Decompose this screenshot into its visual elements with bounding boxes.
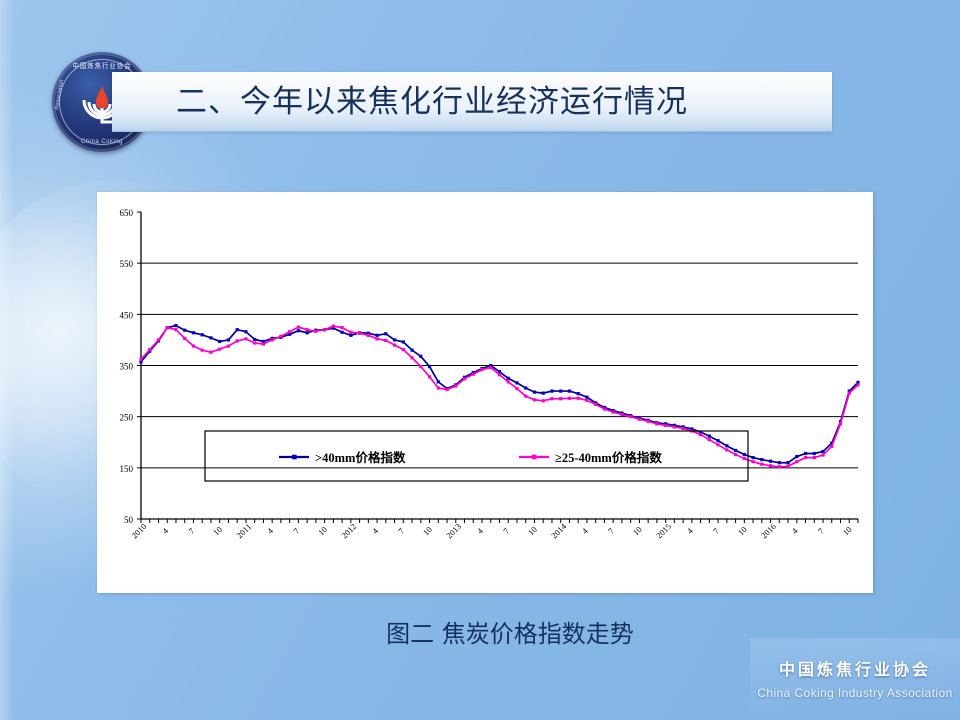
svg-text:≥25-40mm价格指数: ≥25-40mm价格指数 (555, 450, 662, 465)
svg-text:10: 10 (211, 524, 224, 537)
svg-text:7: 7 (396, 526, 406, 536)
price-index-line-chart: 5015025035045055065020104710201147102012… (97, 192, 873, 593)
svg-text:10: 10 (736, 524, 749, 537)
logo-text-en: China Coking (52, 139, 152, 145)
svg-text:650: 650 (120, 208, 134, 218)
svg-text:10: 10 (316, 524, 329, 537)
slide-canvas: 中国炼焦行业协会 Association Industry China Coki… (0, 0, 960, 720)
svg-text:50: 50 (124, 515, 134, 525)
svg-text:2015: 2015 (654, 521, 673, 540)
svg-text:2014: 2014 (549, 521, 569, 541)
svg-text:10: 10 (421, 524, 434, 537)
footer-en: China Coking Industry Association (750, 686, 960, 700)
svg-text:4: 4 (265, 525, 276, 536)
svg-text:4: 4 (370, 525, 381, 536)
svg-text:7: 7 (816, 526, 826, 536)
svg-text:4: 4 (160, 525, 171, 536)
svg-text:>40mm价格指数: >40mm价格指数 (315, 450, 406, 465)
svg-text:4: 4 (790, 525, 801, 536)
chart-panel: 5015025035045055065020104710201147102012… (97, 192, 873, 593)
svg-text:10: 10 (631, 524, 644, 537)
svg-text:350: 350 (120, 362, 134, 372)
svg-text:7: 7 (186, 526, 196, 536)
svg-text:4: 4 (475, 525, 486, 536)
svg-text:10: 10 (841, 524, 854, 537)
svg-text:2013: 2013 (444, 521, 463, 540)
svg-text:10: 10 (526, 524, 539, 537)
svg-text:550: 550 (120, 259, 134, 269)
svg-text:7: 7 (501, 526, 511, 536)
svg-text:7: 7 (606, 526, 616, 536)
page-title: 二、今年以来焦化行业经济运行情况 (176, 76, 876, 128)
footer-cn: 中国炼焦行业协会 (750, 656, 960, 680)
svg-text:2011: 2011 (234, 521, 253, 540)
svg-text:250: 250 (120, 413, 134, 423)
svg-text:2016: 2016 (759, 521, 778, 540)
svg-text:150: 150 (120, 464, 134, 474)
svg-text:4: 4 (685, 525, 696, 536)
figure-caption: 图二 焦炭价格指数走势 (250, 616, 770, 652)
footer-watermark: 中国炼焦行业协会 China Coking Industry Associati… (750, 638, 960, 720)
svg-text:7: 7 (291, 526, 301, 536)
logo-text-cn: 中国炼焦行业协会 (56, 61, 148, 71)
svg-text:2012: 2012 (339, 521, 358, 540)
svg-text:7: 7 (711, 526, 721, 536)
svg-text:4: 4 (580, 525, 591, 536)
svg-text:450: 450 (120, 310, 134, 320)
